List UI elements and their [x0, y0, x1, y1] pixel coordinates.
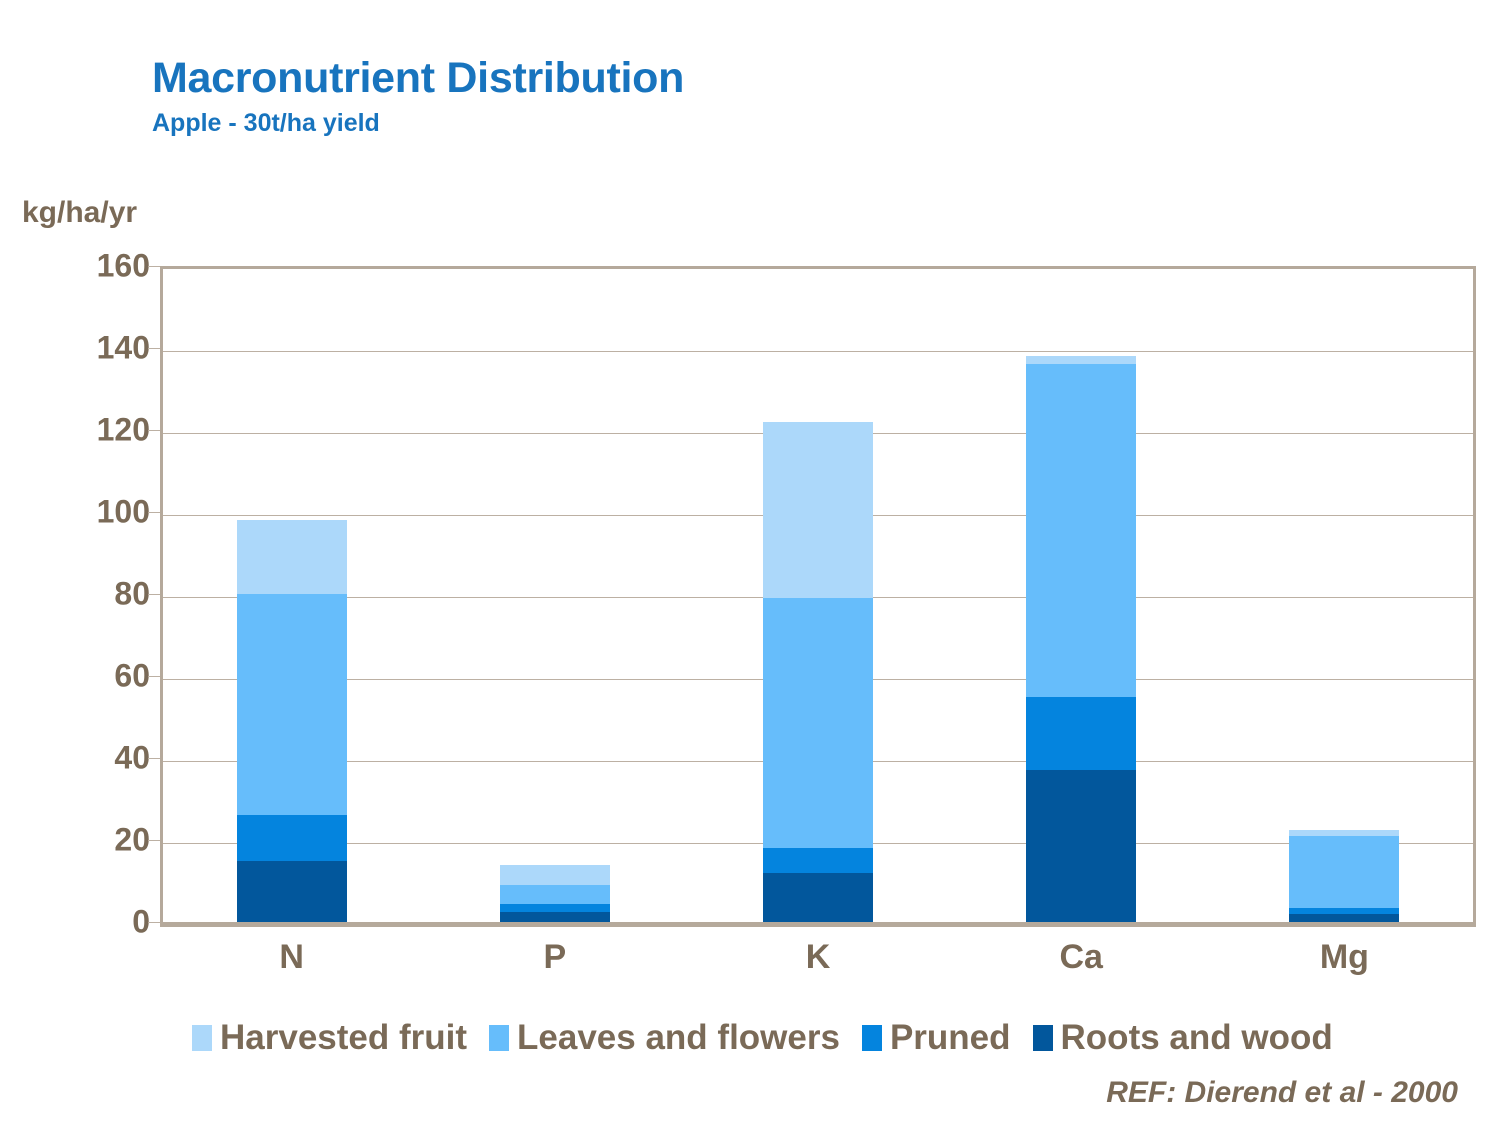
bar-segment[interactable] [500, 885, 610, 903]
legend: Harvested fruitLeaves and flowersPrunedR… [192, 1018, 1333, 1058]
y-tick-label: 40 [0, 740, 150, 777]
legend-label: Roots and wood [1061, 1018, 1333, 1058]
legend-label: Leaves and flowers [517, 1018, 840, 1058]
stacked-bar[interactable] [1289, 830, 1399, 922]
bar-segment[interactable] [237, 861, 347, 923]
bar-segment[interactable] [237, 815, 347, 860]
legend-label: Pruned [890, 1018, 1011, 1058]
bar-segment[interactable] [237, 594, 347, 815]
legend-swatch-icon [192, 1025, 212, 1051]
legend-item[interactable]: Roots and wood [1033, 1018, 1333, 1058]
y-tick-mark [148, 840, 160, 841]
y-tick-label: 0 [0, 904, 150, 941]
bar-group-p [423, 266, 686, 922]
page-title: Macronutrient Distribution [152, 56, 1052, 101]
bar-segment[interactable] [763, 598, 873, 848]
bar-segment[interactable] [237, 520, 347, 594]
y-tick-label: 20 [0, 822, 150, 859]
x-axis-labels: NPKCaMg [160, 938, 1476, 988]
legend-item[interactable]: Leaves and flowers [489, 1018, 840, 1058]
legend-item[interactable]: Harvested fruit [192, 1018, 467, 1058]
y-tick-label: 60 [0, 658, 150, 695]
x-tick-label-n: N [160, 938, 423, 977]
bar-segment[interactable] [500, 912, 610, 922]
reference-note: REF: Dierend et al - 2000 [1106, 1076, 1458, 1110]
bars-layer [160, 266, 1476, 922]
legend-swatch-icon [1033, 1025, 1053, 1051]
y-tick-mark [148, 266, 160, 267]
chart-page: Macronutrient Distribution Apple - 30t/h… [0, 0, 1500, 1125]
bar-segment[interactable] [1289, 914, 1399, 922]
y-tick-label: 140 [0, 330, 150, 367]
bar-segment[interactable] [1289, 836, 1399, 908]
y-tick-mark [148, 512, 160, 513]
bar-group-k [686, 266, 949, 922]
bar-segment[interactable] [500, 904, 610, 912]
y-tick-mark [148, 348, 160, 349]
legend-swatch-icon [862, 1025, 882, 1051]
bar-segment[interactable] [1026, 356, 1136, 364]
y-tick-mark [148, 430, 160, 431]
y-tick-mark [148, 594, 160, 595]
y-tick-label: 120 [0, 412, 150, 449]
y-tick-label: 100 [0, 494, 150, 531]
bar-segment[interactable] [1026, 770, 1136, 922]
bar-segment[interactable] [500, 865, 610, 886]
stacked-bar[interactable] [237, 520, 347, 922]
bar-group-mg [1213, 266, 1476, 922]
y-tick-label: 160 [0, 248, 150, 285]
y-tick-mark [148, 922, 160, 923]
x-tick-label-p: P [423, 938, 686, 977]
legend-label: Harvested fruit [220, 1018, 467, 1058]
y-tick-label: 80 [0, 576, 150, 613]
x-tick-label-ca: Ca [950, 938, 1213, 977]
bar-segment[interactable] [1026, 697, 1136, 771]
y-axis-unit-label: kg/ha/yr [22, 196, 137, 230]
legend-swatch-icon [489, 1025, 509, 1051]
stacked-bar[interactable] [1026, 356, 1136, 922]
bar-segment[interactable] [763, 848, 873, 873]
bar-segment[interactable] [763, 873, 873, 922]
page-subtitle: Apple - 30t/ha yield [152, 109, 1052, 138]
x-tick-label-k: K [686, 938, 949, 977]
y-tick-mark [148, 676, 160, 677]
stacked-bar[interactable] [763, 422, 873, 922]
title-block: Macronutrient Distribution Apple - 30t/h… [152, 56, 1052, 138]
x-tick-label-mg: Mg [1213, 938, 1476, 977]
y-tick-mark [148, 758, 160, 759]
bar-segment[interactable] [1026, 364, 1136, 696]
bar-group-n [160, 266, 423, 922]
stacked-bar[interactable] [500, 865, 610, 922]
bar-segment[interactable] [763, 422, 873, 598]
bar-group-ca [950, 266, 1213, 922]
legend-item[interactable]: Pruned [862, 1018, 1011, 1058]
